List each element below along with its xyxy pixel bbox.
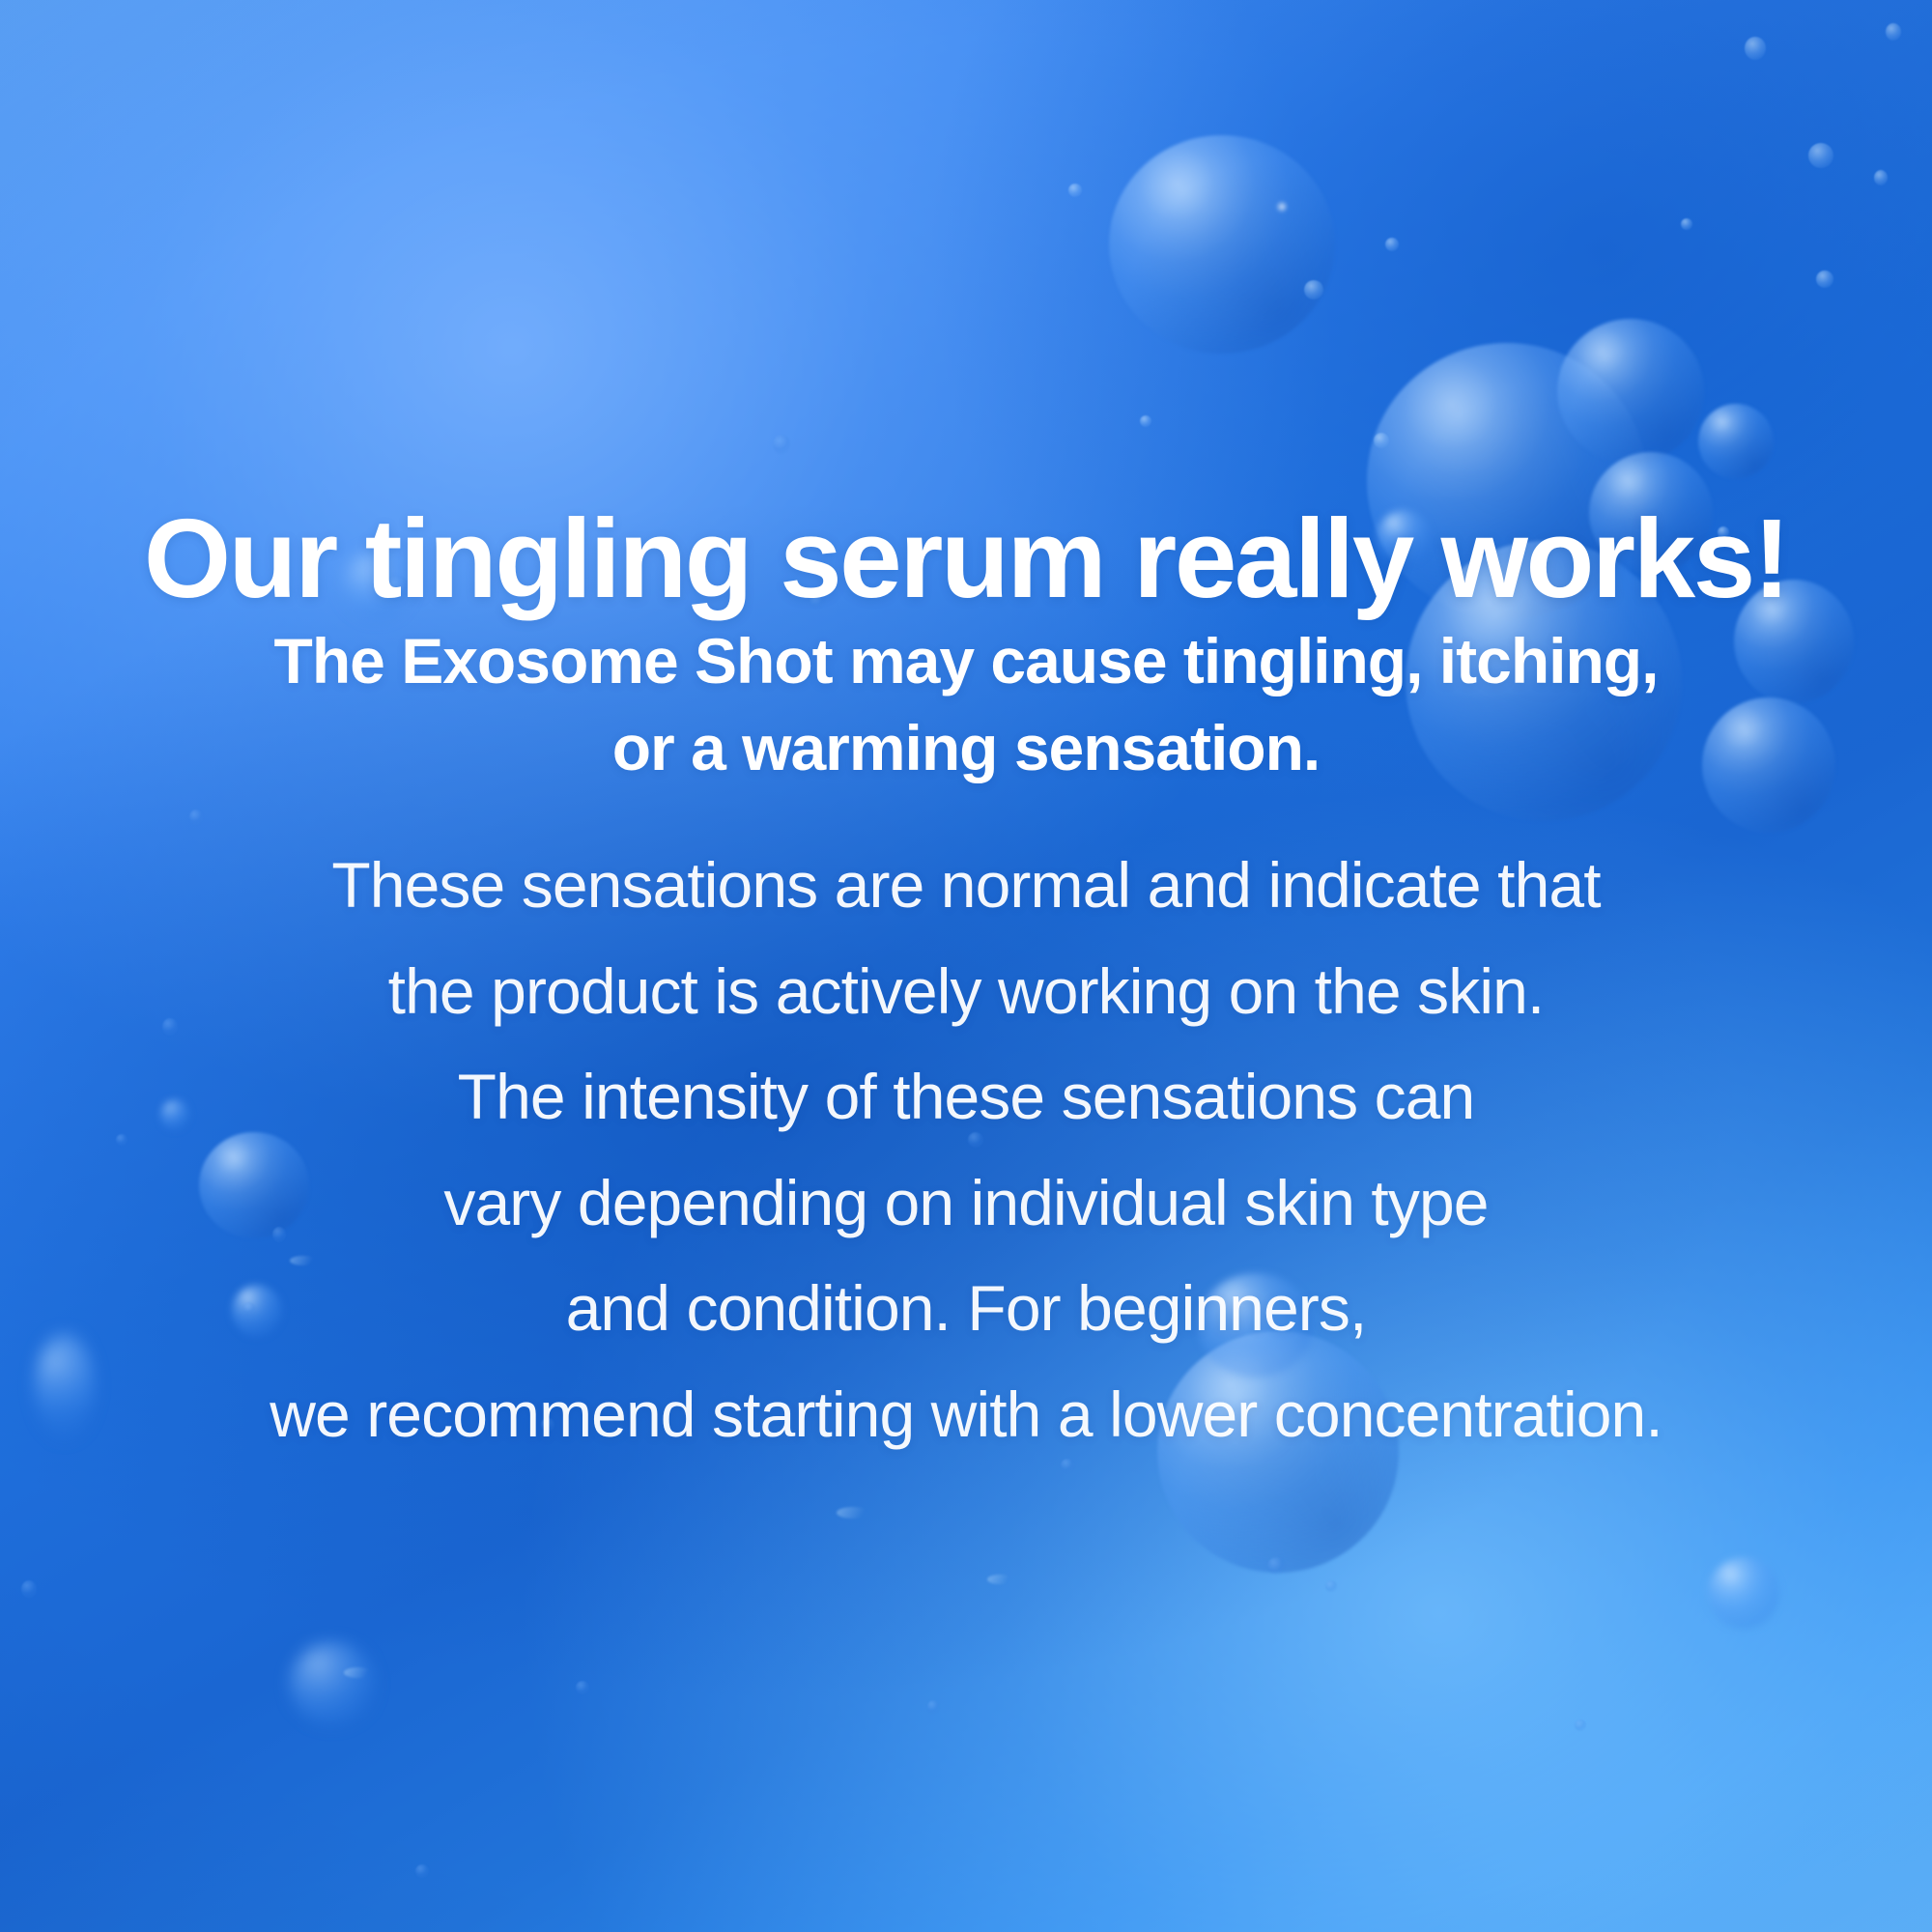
body-paragraph: These sensations are normal and indicate… <box>0 833 1932 1467</box>
promo-text-content: Our tingling serum really works! The Exo… <box>0 0 1932 1932</box>
promo-graphic-canvas: Our tingling serum really works! The Exo… <box>0 0 1932 1932</box>
body-line: These sensations are normal and indicate… <box>0 833 1932 939</box>
lede-line: or a warming sensation. <box>0 705 1932 792</box>
body-line: the product is actively working on the s… <box>0 939 1932 1045</box>
lede-line: The Exosome Shot may cause tingling, itc… <box>0 618 1932 705</box>
body-line: we recommend starting with a lower conce… <box>0 1362 1932 1468</box>
lede-paragraph: The Exosome Shot may cause tingling, itc… <box>0 618 1932 792</box>
body-line: and condition. For beginners, <box>0 1256 1932 1362</box>
page-title: Our tingling serum really works! <box>0 501 1932 615</box>
body-line: vary depending on individual skin type <box>0 1151 1932 1257</box>
body-line: The intensity of these sensations can <box>0 1044 1932 1151</box>
